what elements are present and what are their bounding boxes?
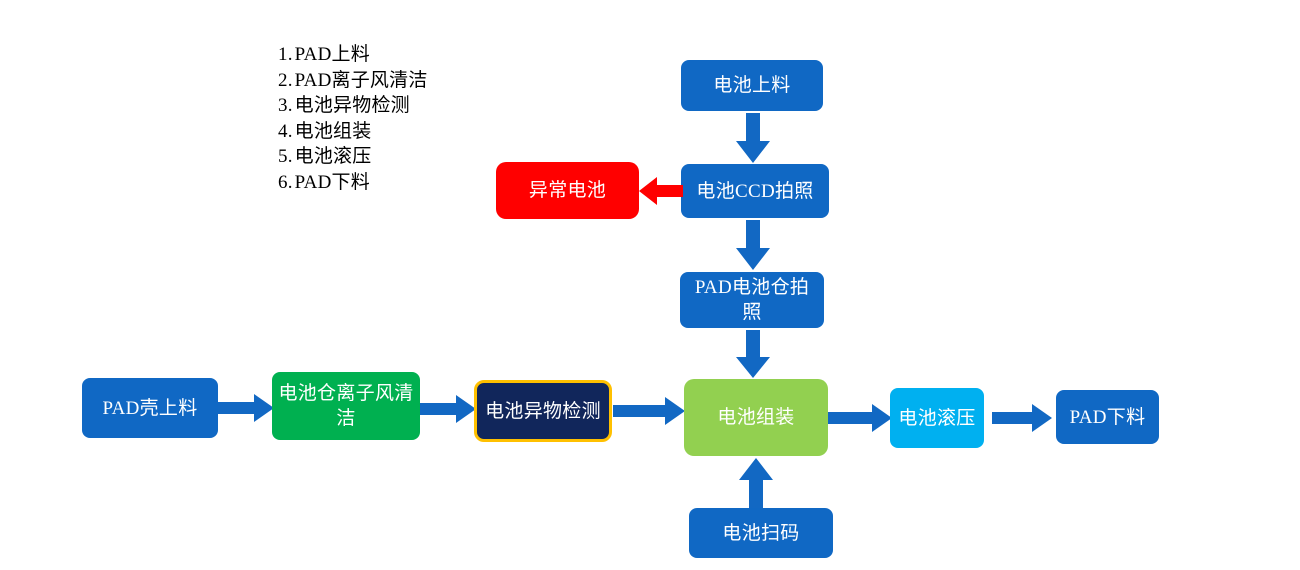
node-label: 电池组装 bbox=[717, 405, 794, 430]
arrow-ccd-to-padphoto bbox=[735, 220, 771, 272]
node-label: 电池异物检测 bbox=[485, 399, 601, 424]
list-item: 2.PAD离子风清洁 bbox=[278, 68, 538, 94]
node-abnormal-battery[interactable]: 异常电池 bbox=[496, 162, 639, 219]
list-item-label: PAD下料 bbox=[295, 172, 370, 193]
arrow-shell-to-ionclean bbox=[218, 392, 274, 424]
arrow-padphoto-to-assembly bbox=[735, 330, 771, 380]
node-label: 电池仓离子风清洁 bbox=[278, 381, 414, 431]
arrow-feed-to-ccd bbox=[735, 113, 771, 165]
list-item: 1.PAD上料 bbox=[278, 42, 538, 68]
arrow-ccd-to-abnormal bbox=[639, 175, 683, 207]
node-pad-unload[interactable]: PAD下料 bbox=[1056, 390, 1159, 444]
node-label: 异常电池 bbox=[529, 178, 606, 203]
list-item-number: 5. bbox=[278, 146, 293, 167]
node-pad-shell-feed[interactable]: PAD壳上料 bbox=[82, 378, 218, 438]
list-item-label: 电池滚压 bbox=[295, 146, 372, 167]
node-label: 电池CCD拍照 bbox=[696, 179, 813, 204]
node-label: 电池滚压 bbox=[898, 406, 975, 431]
node-label: PAD电池仓拍照 bbox=[686, 275, 818, 325]
list-item-label: 电池异物检测 bbox=[295, 95, 410, 116]
arrow-assembly-to-roll bbox=[828, 403, 892, 433]
node-battery-feed[interactable]: 电池上料 bbox=[681, 60, 823, 111]
node-label: PAD壳上料 bbox=[102, 396, 197, 421]
node-ion-clean[interactable]: 电池仓离子风清洁 bbox=[272, 372, 420, 440]
list-item: 4.电池组装 bbox=[278, 119, 538, 145]
node-battery-scan[interactable]: 电池扫码 bbox=[689, 508, 833, 558]
list-item-number: 1. bbox=[278, 44, 293, 65]
arrow-ionclean-to-detect bbox=[420, 394, 476, 424]
list-item: 3.电池异物检测 bbox=[278, 93, 538, 119]
node-foreign-detect[interactable]: 电池异物检测 bbox=[474, 380, 612, 442]
node-battery-assembly[interactable]: 电池组装 bbox=[684, 379, 828, 456]
node-battery-ccd[interactable]: 电池CCD拍照 bbox=[681, 164, 829, 218]
flowchart-canvas: 1.PAD上料 2.PAD离子风清洁 3.电池异物检测 4.电池组装 5.电池滚… bbox=[0, 0, 1300, 570]
list-item-number: 6. bbox=[278, 172, 293, 193]
arrow-detect-to-assembly bbox=[613, 396, 685, 426]
node-label: 电池扫码 bbox=[722, 521, 799, 546]
arrow-roll-to-unload bbox=[992, 403, 1052, 433]
list-item-number: 3. bbox=[278, 95, 293, 116]
list-item-label: PAD上料 bbox=[295, 44, 370, 65]
arrow-scan-to-assembly bbox=[738, 458, 774, 510]
list-item-label: PAD离子风清洁 bbox=[295, 70, 428, 91]
list-item-number: 2. bbox=[278, 70, 293, 91]
list-item-number: 4. bbox=[278, 121, 293, 142]
node-pad-cell-photo[interactable]: PAD电池仓拍照 bbox=[680, 272, 824, 328]
node-label: 电池上料 bbox=[713, 73, 790, 98]
node-label: PAD下料 bbox=[1070, 405, 1146, 430]
node-battery-roll[interactable]: 电池滚压 bbox=[890, 388, 984, 448]
list-item-label: 电池组装 bbox=[295, 121, 372, 142]
